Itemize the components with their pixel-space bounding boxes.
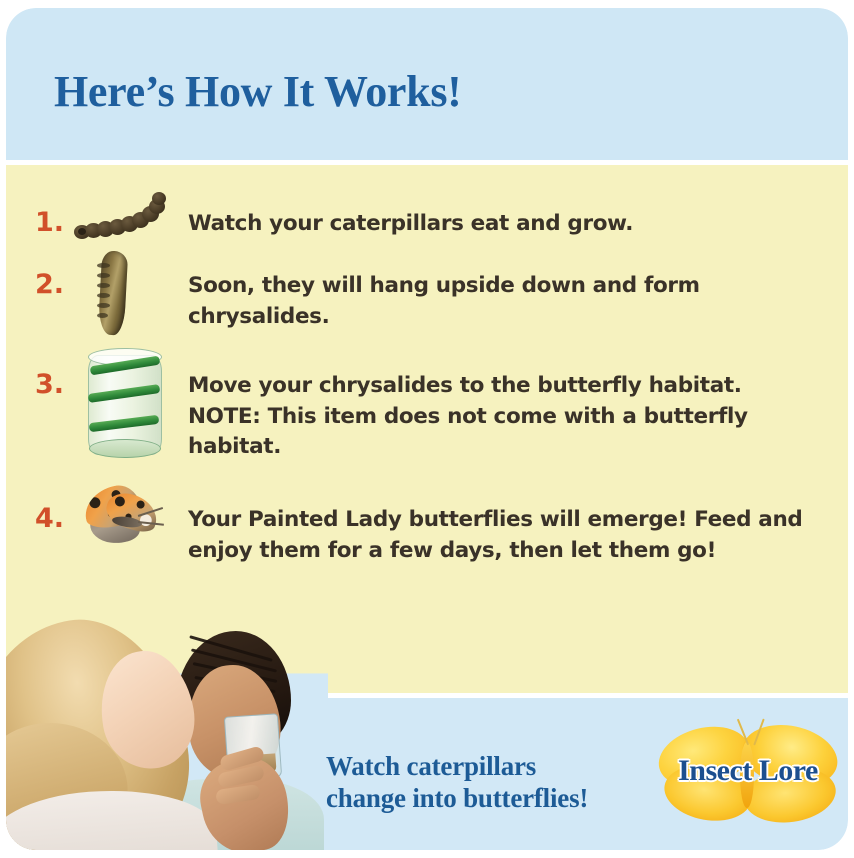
- step-text: Move your chrysalides to the butterfly h…: [180, 371, 848, 463]
- step-number: 2.: [6, 271, 70, 298]
- list-item: 4. Your Painted Lady butterflies will em…: [6, 505, 848, 566]
- mother-and-child-photo: [6, 573, 328, 850]
- step-number: 3.: [6, 371, 70, 398]
- info-card: Here’s How It Works! 1.: [6, 8, 848, 850]
- list-item: 1.: [6, 209, 848, 240]
- butterfly-habitat-icon: [78, 347, 172, 463]
- list-item: 3. Move your chrysalides to the butterfl…: [6, 371, 848, 463]
- step-number: 4.: [6, 505, 70, 532]
- poster-page: Here’s How It Works! 1.: [0, 0, 854, 858]
- caterpillar-icon: [74, 195, 178, 249]
- tagline-line-2: change into butterflies!: [326, 782, 588, 814]
- list-item: 2. Soon, they will hang upside down a: [6, 271, 848, 332]
- step-text: Watch your caterpillars eat and grow.: [180, 209, 848, 240]
- chrysalis-icon: [92, 249, 138, 341]
- step-text: Soon, they will hang upside down and for…: [180, 271, 848, 332]
- painted-lady-butterfly-icon: [76, 483, 180, 563]
- tagline-line-1: Watch caterpillars: [326, 750, 588, 782]
- step-text: Your Painted Lady butterflies will emerg…: [180, 505, 848, 566]
- logo-wordmark: Insect Lore: [654, 754, 842, 788]
- insect-lore-logo: Insect Lore: [654, 720, 842, 830]
- footer-tagline: Watch caterpillars change into butterfli…: [326, 750, 588, 815]
- step-number: 1.: [6, 209, 70, 236]
- page-title: Here’s How It Works!: [54, 66, 462, 117]
- header-band: Here’s How It Works!: [6, 8, 848, 160]
